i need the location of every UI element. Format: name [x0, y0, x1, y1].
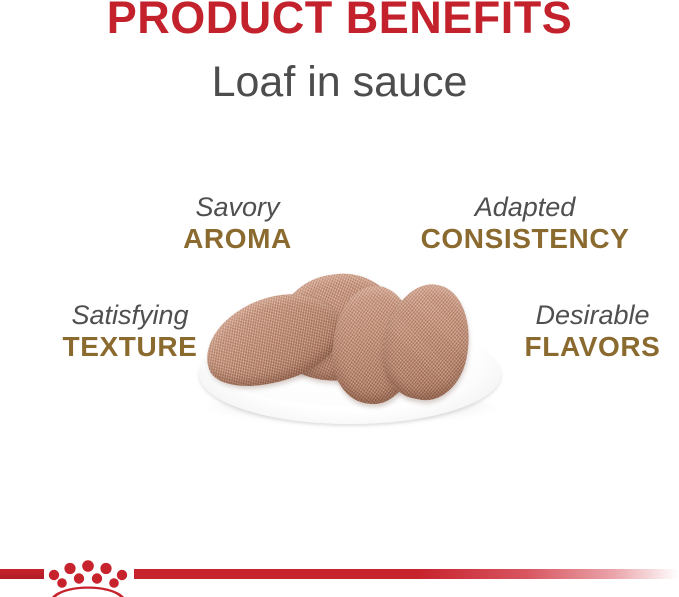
benefit-flavors: Desirable FLAVORS	[490, 300, 679, 363]
page-title: PRODUCT BENEFITS	[0, 0, 679, 44]
brand-bar-right-segment	[134, 569, 679, 579]
benefit-consistency-noun: CONSISTENCY	[400, 223, 650, 255]
royal-canin-crown-icon	[42, 553, 134, 597]
benefit-flavors-adjective: Desirable	[490, 300, 679, 331]
benefit-consistency-adjective: Adapted	[400, 192, 650, 223]
benefit-aroma: Savory AROMA	[140, 192, 335, 255]
brand-bar-left-segment	[0, 569, 44, 579]
benefit-flavors-noun: FLAVORS	[490, 331, 679, 363]
page-subtitle: Loaf in sauce	[0, 58, 679, 107]
benefit-aroma-adjective: Savory	[140, 192, 335, 223]
food-product-photo	[185, 262, 515, 442]
benefit-aroma-noun: AROMA	[140, 223, 335, 255]
product-benefits-panel: PRODUCT BENEFITS Loaf in sauce Savory AR…	[0, 0, 679, 597]
brand-footer-bar	[0, 565, 679, 597]
benefit-consistency: Adapted CONSISTENCY	[400, 192, 650, 255]
